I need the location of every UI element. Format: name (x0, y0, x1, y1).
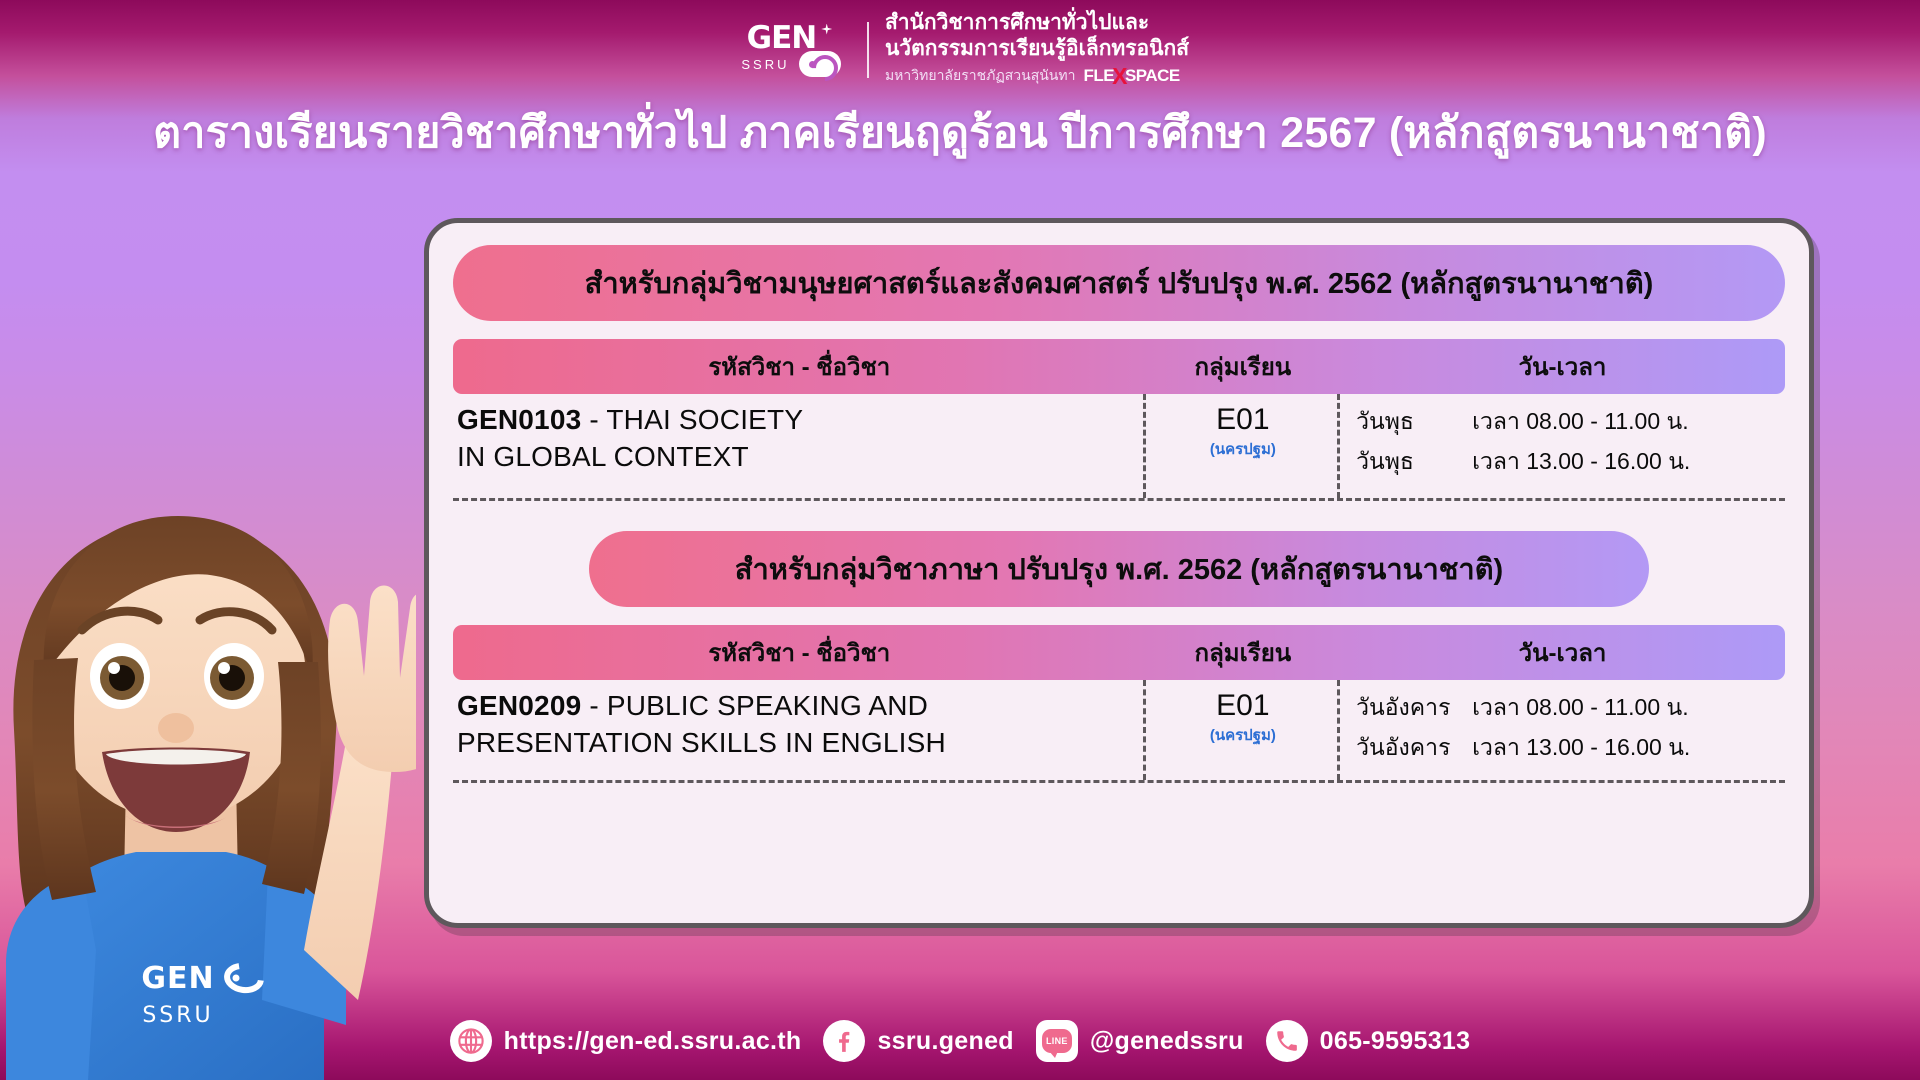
subject-code: GEN0209 (457, 690, 581, 721)
cell-daytime: วันอังคาร เวลา 08.00 - 11.00 น. วันอังคา… (1340, 680, 1785, 780)
section-code: E01 (1216, 404, 1269, 436)
eye-left (90, 643, 150, 709)
day-label: วันอังคาร (1340, 728, 1472, 768)
subject-dash: - (581, 690, 606, 721)
gened-mascot-waving-student: GEN SSRU (0, 480, 416, 1080)
table-header-humanities: รหัสวิชา - ชื่อวิชา กลุ่มเรียน วัน-เวลา (453, 339, 1785, 394)
footer-phone[interactable]: 065-9595313 (1266, 1020, 1471, 1062)
page-title: ตารางเรียนรายวิชาศึกษาทั่วไป ภาคเรียนฤดู… (0, 98, 1920, 166)
nose (158, 713, 194, 743)
column-header-section: กลุ่มเรียน (1146, 625, 1340, 680)
column-header-subject: รหัสวิชา - ชื่อวิชา (453, 339, 1146, 394)
line-icon: LINE (1036, 1020, 1078, 1062)
day-label: วันอังคาร (1340, 688, 1472, 728)
cell-subject: GEN0103 - THAI SOCIETY IN GLOBAL CONTEXT (453, 394, 1146, 498)
phone-number: 065-9595313 (1320, 1027, 1471, 1056)
flexspace-part-1: FLE (1083, 66, 1114, 86)
column-header-daytime: วัน-เวลา (1340, 625, 1785, 680)
row-separator (453, 780, 1785, 783)
subject-dash: - (581, 404, 606, 435)
daytime-entry: วันอังคาร เวลา 08.00 - 11.00 น. (1340, 688, 1785, 728)
footer-line[interactable]: LINE @genedssru (1036, 1020, 1244, 1062)
line-handle: @genedssru (1090, 1027, 1244, 1056)
group-banner-language: สำหรับกลุ่มวิชาภาษา ปรับปรุง พ.ศ. 2562 (… (589, 531, 1649, 607)
column-header-subject: รหัสวิชา - ชื่อวิชา (453, 625, 1146, 680)
time-label: เวลา 13.00 - 16.00 น. (1472, 728, 1785, 768)
org-line-3: มหาวิทยาลัยราชภัฏสวนสุนันทา (885, 65, 1076, 87)
table-row: GEN0103 - THAI SOCIETY IN GLOBAL CONTEXT… (453, 394, 1785, 498)
facebook-icon (823, 1020, 865, 1062)
time-label: เวลา 13.00 - 16.00 น. (1472, 442, 1785, 482)
eye-right (204, 643, 264, 709)
facebook-handle: ssru.gened (877, 1027, 1013, 1056)
logo-wordmark: GEN (747, 23, 817, 54)
line-badge: LINE (1042, 1029, 1072, 1053)
flexspace-part-2: SPACE (1125, 66, 1180, 86)
flexspace-logo: FLEXSPACE (1083, 63, 1179, 90)
column-header-daytime: วัน-เวลา (1340, 339, 1785, 394)
subject-code: GEN0103 (457, 404, 581, 435)
org-line-2: นวัตกรรมการเรียนรู้อิเล็กทรอนิกส์ (885, 36, 1189, 62)
ed-mark-icon (799, 51, 841, 77)
section-campus: (นครปฐม) (1210, 437, 1276, 461)
gened-ssru-logo: GEN SSRU (731, 23, 851, 77)
website-url: https://gen-ed.ssru.ac.th (504, 1027, 802, 1056)
svg-text:GEN: GEN (141, 961, 214, 996)
daytime-entry: วันอังคาร เวลา 13.00 - 16.00 น. (1340, 728, 1785, 768)
subject-name-line-1: THAI SOCIETY (606, 404, 803, 435)
time-label: เวลา 08.00 - 11.00 น. (1472, 688, 1785, 728)
daytime-entry: วันพุธ เวลา 13.00 - 16.00 น. (1340, 442, 1785, 482)
phone-icon (1266, 1020, 1308, 1062)
cell-section: E01 (นครปฐม) (1146, 680, 1340, 780)
day-label: วันพุธ (1340, 442, 1472, 482)
sparkle-icon (819, 24, 835, 54)
footer-facebook[interactable]: ssru.gened (823, 1020, 1013, 1062)
subject-name-line-1: PUBLIC SPEAKING AND (607, 690, 928, 721)
logo-ssru-text: SSRU (741, 57, 789, 72)
section-campus: (นครปฐม) (1210, 723, 1276, 747)
column-header-section: กลุ่มเรียน (1146, 339, 1340, 394)
group-banner-humanities: สำหรับกลุ่มวิชามนุษยศาสตร์และสังคมศาสตร์… (453, 245, 1785, 321)
subject-name-line-2: IN GLOBAL CONTEXT (457, 441, 749, 472)
table-header-language: รหัสวิชา - ชื่อวิชา กลุ่มเรียน วัน-เวลา (453, 625, 1785, 680)
cell-subject: GEN0209 - PUBLIC SPEAKING AND PRESENTATI… (453, 680, 1146, 780)
cell-daytime: วันพุธ เวลา 08.00 - 11.00 น. วันพุธ เวลา… (1340, 394, 1785, 498)
day-label: วันพุธ (1340, 402, 1472, 442)
header-logo-bar: GEN SSRU สำนักวิชาการศึกษาทั่วไปและ นวัต… (0, 0, 1920, 100)
subject-name-line-2: PRESENTATION SKILLS IN ENGLISH (457, 727, 946, 758)
time-label: เวลา 08.00 - 11.00 น. (1472, 402, 1785, 442)
footer-website[interactable]: https://gen-ed.ssru.ac.th (450, 1020, 802, 1062)
globe-icon (450, 1020, 492, 1062)
hand-waving (328, 586, 416, 773)
org-line-1: สำนักวิชาการศึกษาทั่วไปและ (885, 10, 1189, 36)
organization-name: สำนักวิชาการศึกษาทั่วไปและ นวัตกรรมการเร… (885, 10, 1189, 89)
section-code: E01 (1216, 690, 1269, 722)
cell-section: E01 (นครปฐม) (1146, 394, 1340, 498)
daytime-entry: วันพุธ เวลา 08.00 - 11.00 น. (1340, 402, 1785, 442)
row-separator (453, 498, 1785, 501)
footer-contact-bar: https://gen-ed.ssru.ac.th ssru.gened LIN… (0, 1020, 1920, 1062)
table-row: GEN0209 - PUBLIC SPEAKING AND PRESENTATI… (453, 680, 1785, 780)
header-divider (867, 22, 869, 78)
schedule-card: สำหรับกลุ่มวิชามนุษยศาสตร์และสังคมศาสตร์… (424, 218, 1814, 928)
